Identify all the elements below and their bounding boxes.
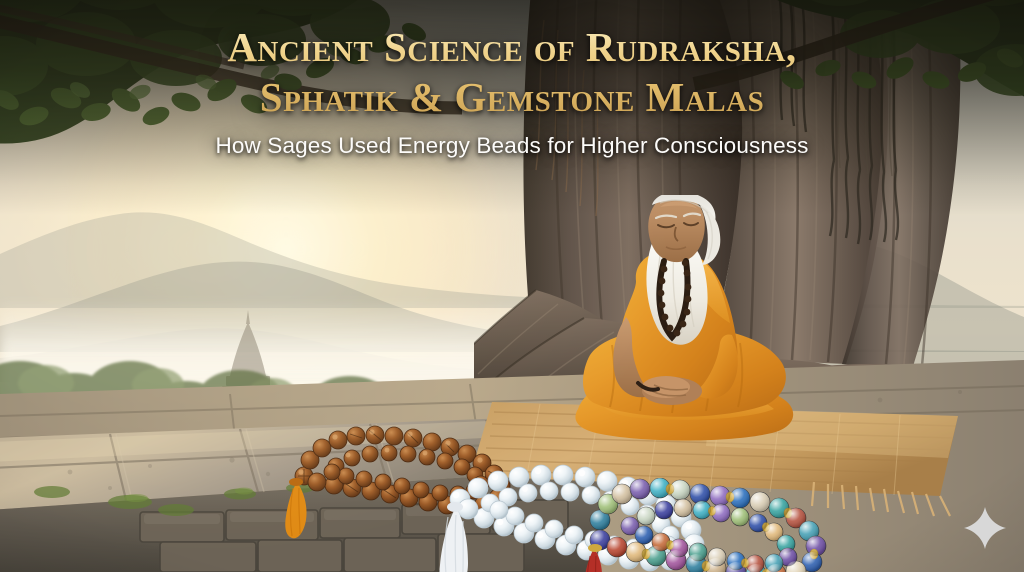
hero-banner: Ancient Science of Rudraksha, Sphatik & … xyxy=(0,0,1024,572)
meditating-sage xyxy=(560,195,820,460)
overhead-leaf-canopy-right xyxy=(624,0,1024,180)
gemstone-mala xyxy=(560,478,840,572)
overhead-leaf-canopy-left xyxy=(0,0,610,240)
sparkle-icon[interactable] xyxy=(962,505,1008,551)
